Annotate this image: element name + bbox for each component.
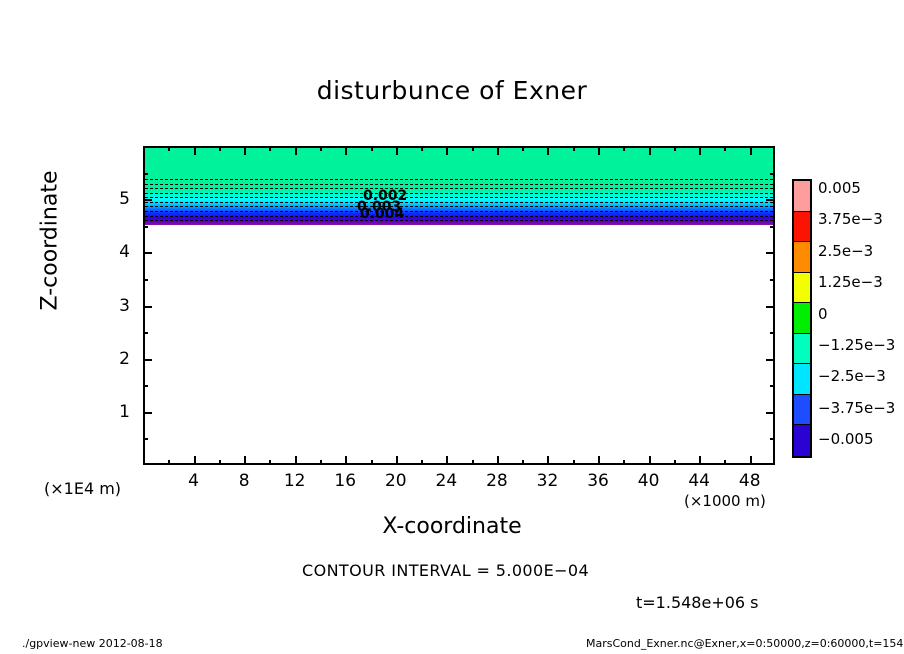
contour-fill-region bbox=[145, 148, 773, 225]
y-tick-label: 5 bbox=[104, 189, 130, 209]
y-tick-minor bbox=[143, 279, 148, 281]
x-tick-major bbox=[295, 456, 297, 465]
x-tick-minor bbox=[623, 146, 625, 151]
x-tick-major bbox=[497, 146, 499, 155]
x-tick-label: 12 bbox=[284, 471, 306, 491]
colorbar-tick-label: 1.25e−3 bbox=[818, 273, 883, 291]
y-tick-minor bbox=[770, 226, 775, 228]
x-tick-minor bbox=[421, 146, 423, 151]
x-tick-major bbox=[194, 146, 196, 155]
x-tick-major bbox=[547, 146, 549, 155]
y-tick-minor bbox=[770, 385, 775, 387]
x-tick-major bbox=[750, 146, 752, 155]
footer-source: MarsCond_Exner.nc@Exner,x=0:50000,z=0:60… bbox=[586, 637, 904, 650]
x-tick-major bbox=[598, 146, 600, 155]
x-tick-minor bbox=[371, 460, 373, 465]
colorbar-swatch bbox=[794, 242, 810, 273]
y-tick-label: 4 bbox=[104, 242, 130, 262]
y-tick-label: 1 bbox=[104, 402, 130, 422]
y-tick-minor bbox=[143, 438, 148, 440]
y-axis-title: Z-coordinate bbox=[38, 131, 63, 351]
x-tick-major bbox=[345, 456, 347, 465]
x-tick-label: 48 bbox=[739, 471, 761, 491]
x-tick-major bbox=[396, 146, 398, 155]
x-tick-minor bbox=[573, 146, 575, 151]
x-tick-minor bbox=[320, 146, 322, 151]
x-tick-major bbox=[295, 146, 297, 155]
x-tick-label: 4 bbox=[188, 471, 199, 491]
y-tick-minor bbox=[770, 173, 775, 175]
colorbar-tick-label: 0 bbox=[818, 305, 828, 323]
x-tick-minor bbox=[522, 460, 524, 465]
x-tick-major bbox=[244, 456, 246, 465]
y-tick-minor bbox=[770, 279, 775, 281]
colorbar-tick-label: −0.005 bbox=[818, 430, 874, 448]
x-tick-major bbox=[446, 456, 448, 465]
x-tick-minor bbox=[724, 460, 726, 465]
y-tick-minor bbox=[770, 332, 775, 334]
colorbar-swatch bbox=[794, 303, 810, 334]
colorbar-swatch bbox=[794, 273, 810, 304]
y-tick-minor bbox=[770, 438, 775, 440]
x-tick-minor bbox=[421, 460, 423, 465]
colorbar-swatch bbox=[794, 334, 810, 365]
contour-line bbox=[145, 188, 773, 189]
x-tick-minor bbox=[320, 460, 322, 465]
x-tick-major bbox=[244, 146, 246, 155]
y-tick-major bbox=[143, 412, 152, 414]
contour-line bbox=[145, 211, 773, 212]
x-tick-minor bbox=[674, 460, 676, 465]
time-stamp-note: t=1.548e+06 s bbox=[636, 593, 759, 612]
contour-value-label: 0.004 bbox=[360, 207, 404, 221]
x-tick-label: 44 bbox=[688, 471, 710, 491]
contour-interval-note: CONTOUR INTERVAL = 5.000E−04 bbox=[302, 561, 589, 580]
colorbar-tick-label: −2.5e−3 bbox=[818, 367, 886, 385]
y-tick-minor bbox=[143, 385, 148, 387]
x-tick-minor bbox=[724, 146, 726, 151]
x-tick-label: 24 bbox=[436, 471, 458, 491]
y-tick-major bbox=[143, 306, 152, 308]
x-tick-major bbox=[446, 146, 448, 155]
y-tick-major bbox=[766, 412, 775, 414]
x-tick-minor bbox=[371, 146, 373, 151]
x-tick-minor bbox=[674, 146, 676, 151]
x-tick-label: 36 bbox=[587, 471, 609, 491]
x-tick-minor bbox=[573, 460, 575, 465]
x-tick-major bbox=[396, 456, 398, 465]
x-tick-major bbox=[497, 456, 499, 465]
colorbar-tick-label: −1.25e−3 bbox=[818, 336, 895, 354]
x-tick-label: 40 bbox=[638, 471, 660, 491]
colorbar-tick-label: −3.75e−3 bbox=[818, 399, 895, 417]
y-tick-minor bbox=[143, 332, 148, 334]
x-tick-major bbox=[649, 146, 651, 155]
colorbar-swatch bbox=[794, 395, 810, 426]
page-title: disturbunce of Exner bbox=[0, 76, 904, 105]
contour-line bbox=[145, 202, 773, 203]
x-tick-minor bbox=[219, 146, 221, 151]
contour-band-uniform bbox=[145, 148, 773, 189]
y-tick-label: 3 bbox=[104, 296, 130, 316]
x-tick-minor bbox=[623, 460, 625, 465]
y-tick-major bbox=[143, 199, 152, 201]
x-tick-minor bbox=[219, 460, 221, 465]
x-tick-minor bbox=[168, 146, 170, 151]
y-tick-minor bbox=[143, 226, 148, 228]
x-tick-minor bbox=[472, 146, 474, 151]
contour-line bbox=[145, 220, 773, 221]
footer-command: ./gpview-new 2012-08-18 bbox=[22, 637, 163, 650]
y-tick-major bbox=[766, 306, 775, 308]
x-tick-major bbox=[750, 456, 752, 465]
x-tick-major bbox=[598, 456, 600, 465]
contour-line bbox=[145, 179, 773, 180]
x-axis-title: X-coordinate bbox=[0, 514, 904, 539]
colorbar-swatch bbox=[794, 425, 810, 456]
x-tick-major bbox=[649, 456, 651, 465]
y-tick-label: 2 bbox=[104, 349, 130, 369]
y-tick-major bbox=[143, 252, 152, 254]
colorbar-swatch bbox=[794, 364, 810, 395]
x-tick-major bbox=[699, 456, 701, 465]
y-tick-minor bbox=[143, 173, 148, 175]
x-tick-label: 28 bbox=[486, 471, 508, 491]
x-tick-label: 32 bbox=[537, 471, 559, 491]
colorbar-swatch bbox=[794, 212, 810, 243]
colorbar-tick-label: 0.005 bbox=[818, 179, 861, 197]
x-tick-minor bbox=[269, 460, 271, 465]
y-axis-unit-label: (×1E4 m) bbox=[44, 479, 121, 498]
x-tick-major bbox=[345, 146, 347, 155]
contour-line bbox=[145, 184, 773, 185]
colorbar-swatch bbox=[794, 181, 810, 212]
figure-canvas: disturbunce of Exner 0.0020.0030.004 481… bbox=[0, 0, 904, 654]
y-tick-major bbox=[143, 359, 152, 361]
colorbar-tick-label: 2.5e−3 bbox=[818, 242, 873, 260]
colorbar[interactable] bbox=[792, 179, 812, 458]
contour-line bbox=[145, 193, 773, 194]
x-tick-minor bbox=[269, 146, 271, 151]
x-axis-unit-label: (×1000 m) bbox=[684, 492, 766, 510]
x-tick-minor bbox=[472, 460, 474, 465]
contour-line bbox=[145, 216, 773, 217]
y-tick-major bbox=[766, 359, 775, 361]
plot-area[interactable] bbox=[143, 146, 775, 465]
contour-line bbox=[145, 197, 773, 198]
colorbar-tick-label: 3.75e−3 bbox=[818, 210, 883, 228]
y-tick-major bbox=[766, 252, 775, 254]
x-tick-minor bbox=[168, 460, 170, 465]
contour-line bbox=[145, 206, 773, 207]
x-tick-label: 16 bbox=[334, 471, 356, 491]
contour-line bbox=[145, 225, 773, 226]
y-tick-major bbox=[766, 199, 775, 201]
x-tick-label: 8 bbox=[239, 471, 250, 491]
x-tick-major bbox=[699, 146, 701, 155]
x-tick-major bbox=[194, 456, 196, 465]
x-tick-minor bbox=[522, 146, 524, 151]
x-tick-major bbox=[547, 456, 549, 465]
x-tick-label: 20 bbox=[385, 471, 407, 491]
